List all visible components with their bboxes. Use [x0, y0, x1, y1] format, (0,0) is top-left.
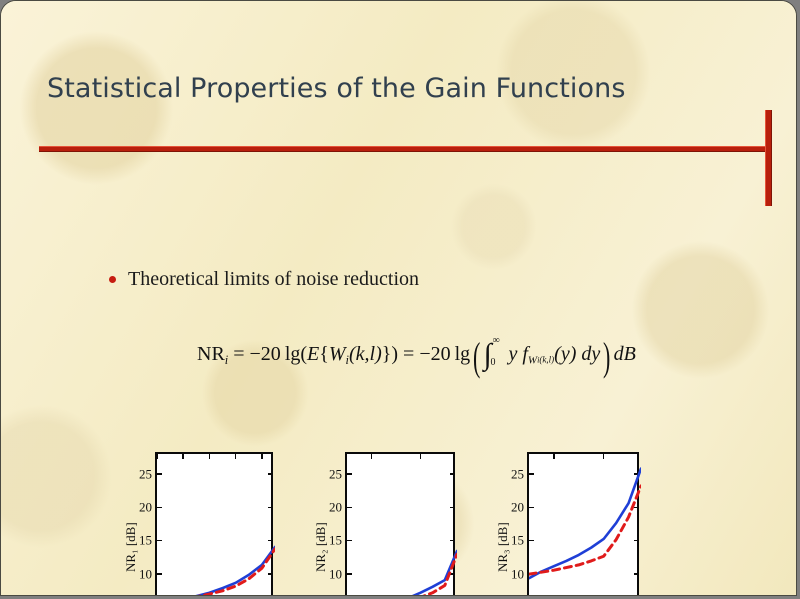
- formula-term-2: −20 lg: [419, 343, 470, 365]
- y-tick-label: 15: [139, 534, 152, 547]
- formula-equals-2: =: [403, 343, 414, 365]
- integral-sign-icon: ∫∞0: [483, 347, 503, 370]
- y-tick-label: 25: [511, 467, 524, 480]
- y-tick-label: 10: [329, 567, 342, 580]
- plot-area: 5101520250.60.8: [527, 452, 639, 596]
- y-tick-label: 25: [329, 467, 342, 480]
- y-tick-label: 10: [511, 567, 524, 580]
- formula-big-paren-close: ): [603, 333, 610, 380]
- formula-noise-reduction: NRi = −20 lg(E{Wi(k,l)}) = −20 lg(∫∞0 y …: [197, 333, 797, 380]
- formula-gain-symbol: W: [329, 343, 346, 365]
- formula-equals-1: =: [233, 343, 244, 365]
- y-axis-label: NR₁ [dB]: [123, 522, 139, 572]
- formula-big-paren-open: (: [473, 333, 480, 380]
- bullet-label: Theoretical limits of noise reduction: [128, 268, 419, 291]
- formula-lhs: NR: [197, 343, 225, 365]
- formula-integrand: y f: [508, 343, 527, 365]
- bullet-item-theoretical-limits: Theoretical limits of noise reduction: [109, 268, 797, 291]
- formula-paren-close: ): [391, 343, 398, 365]
- title-underline-rule: [39, 146, 769, 152]
- y-tick-label: 15: [329, 534, 342, 547]
- formula-gain-args: (k,l): [349, 343, 382, 365]
- formula-expectation-operator: E: [307, 343, 319, 365]
- formula-integrand-sub3: (k,l): [539, 355, 554, 365]
- formula-integrand-tail: (y) dy: [554, 343, 600, 365]
- plot-area: 5101520250.60.8: [345, 452, 455, 596]
- y-axis-label: NR₃ [dB]: [495, 522, 511, 572]
- series-layer: [157, 454, 275, 596]
- formula-brace-open: {: [319, 343, 329, 365]
- y-axis-label: NR₂ [dB]: [313, 522, 329, 572]
- y-tick-label: 20: [329, 501, 342, 514]
- title-vertical-accent-bar: [765, 110, 772, 206]
- plot-area: 5101520250.50.60.70.80.9: [155, 452, 273, 596]
- formula-brace-close: }: [382, 343, 392, 365]
- page-title: Statistical Properties of the Gain Funct…: [47, 73, 797, 104]
- series-layer: [529, 454, 641, 596]
- y-tick-label: 20: [139, 501, 152, 514]
- series-line-simulated: [157, 549, 275, 596]
- slide-canvas: Statistical Properties of the Gain Funct…: [0, 0, 797, 596]
- bullet-dot-icon: [109, 276, 116, 283]
- formula-term-1: −20 lg(: [250, 343, 308, 365]
- formula-integrand-sub: W: [528, 354, 537, 366]
- y-tick-label: 25: [139, 467, 152, 480]
- series-layer: [347, 454, 457, 596]
- y-tick-label: 15: [511, 534, 524, 547]
- y-tick-label: 10: [139, 567, 152, 580]
- series-line-simulated: [347, 554, 457, 596]
- formula-lhs-subscript: i: [225, 353, 228, 367]
- series-line-simulated: [529, 486, 641, 574]
- formula-unit: dB: [614, 343, 636, 365]
- y-tick-label: 20: [511, 501, 524, 514]
